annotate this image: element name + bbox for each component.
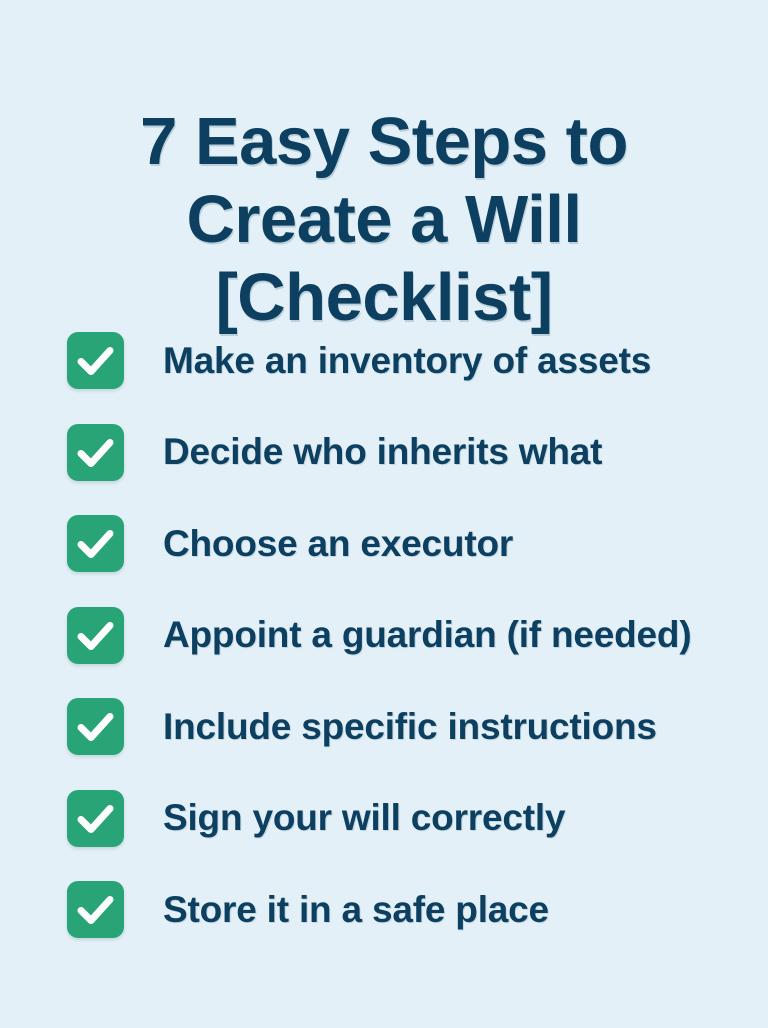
list-item[interactable]: Make an inventory of assets (0, 332, 768, 389)
list-item-label: Choose an executor (163, 522, 513, 566)
list-item-label: Store it in a safe place (163, 888, 549, 932)
checkbox-checked-icon[interactable] (67, 790, 124, 847)
checkbox-checked-icon[interactable] (67, 698, 124, 755)
list-item[interactable]: Include specific instructions (0, 698, 768, 755)
list-item[interactable]: Decide who inherits what (0, 424, 768, 481)
checklist: Make an inventory of assets Decide who i… (0, 332, 768, 938)
page-title-line-2: Create a Will (0, 181, 768, 259)
list-item-label: Decide who inherits what (163, 430, 602, 474)
page-title: 7 Easy Steps to Create a Will [Checklist… (0, 103, 768, 337)
checkbox-checked-icon[interactable] (67, 515, 124, 572)
list-item-label: Include specific instructions (163, 705, 657, 749)
list-item-label: Make an inventory of assets (163, 339, 651, 383)
checkbox-checked-icon[interactable] (67, 881, 124, 938)
list-item-label: Sign your will correctly (163, 796, 565, 840)
list-item[interactable]: Store it in a safe place (0, 881, 768, 938)
checkbox-checked-icon[interactable] (67, 332, 124, 389)
page-title-line-3: [Checklist] (0, 259, 768, 337)
list-item[interactable]: Sign your will correctly (0, 790, 768, 847)
checkbox-checked-icon[interactable] (67, 607, 124, 664)
list-item[interactable]: Appoint a guardian (if needed) (0, 607, 768, 664)
page-title-line-1: 7 Easy Steps to (0, 103, 768, 181)
checkbox-checked-icon[interactable] (67, 424, 124, 481)
list-item-label: Appoint a guardian (if needed) (163, 613, 691, 657)
checklist-poster: 7 Easy Steps to Create a Will [Checklist… (0, 0, 768, 1028)
list-item[interactable]: Choose an executor (0, 515, 768, 572)
